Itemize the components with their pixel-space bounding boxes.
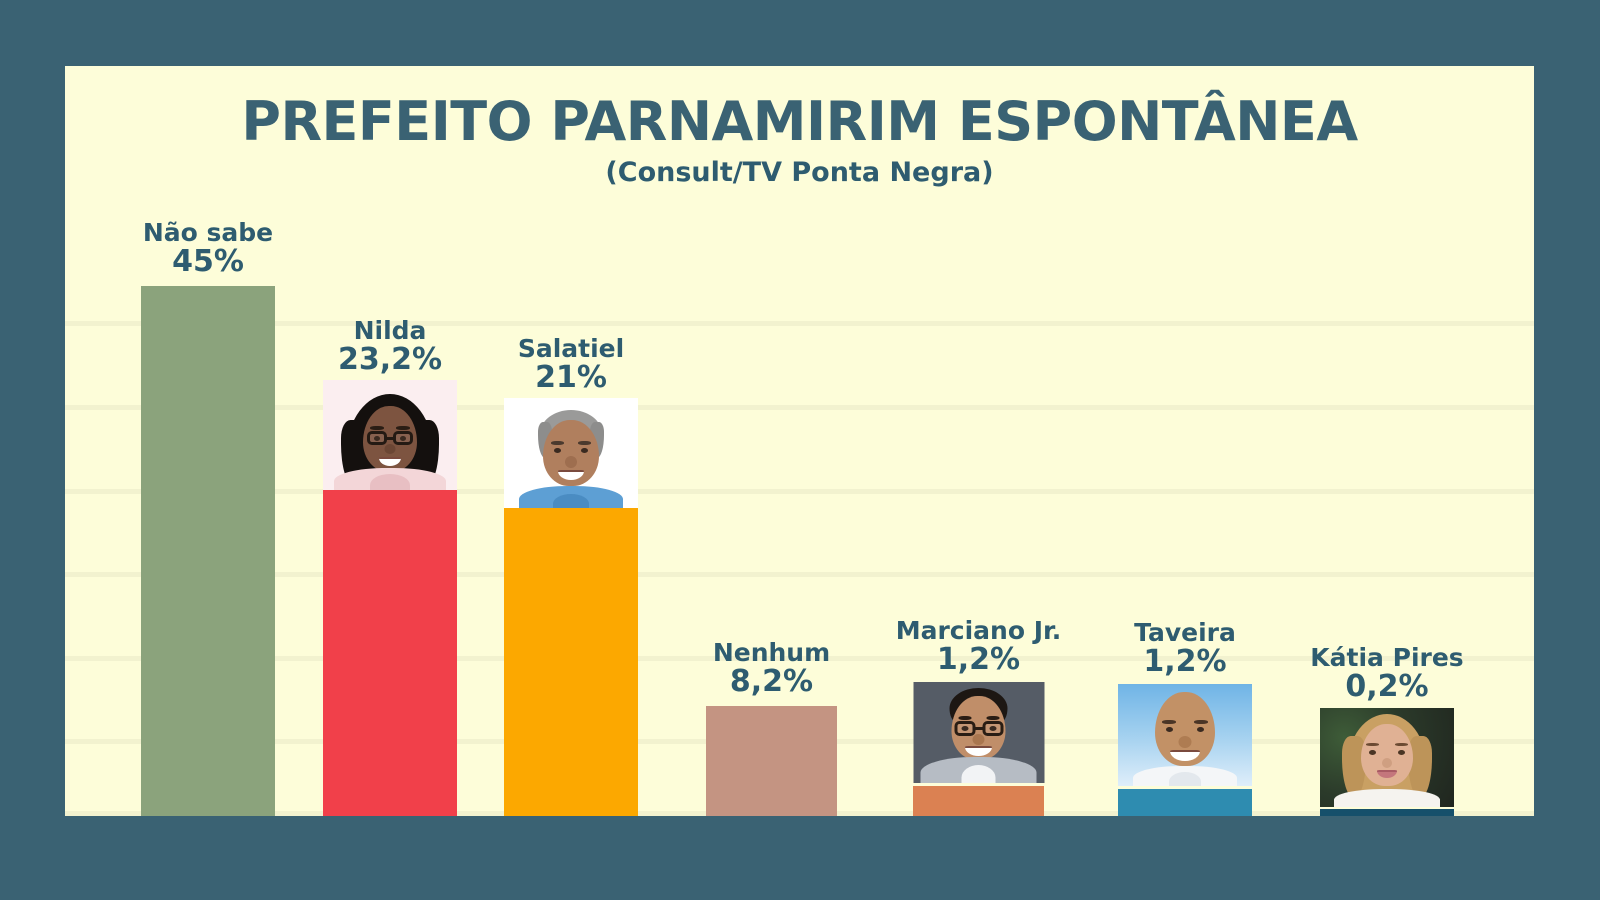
- bar-marciano[interactable]: [913, 786, 1044, 816]
- bar-value: 23,2%: [338, 344, 442, 376]
- bar-katia[interactable]: [1320, 809, 1454, 816]
- marciano-photo: [913, 682, 1044, 783]
- chart-frame: PREFEITO PARNAMIRIM ESPONTÂNEA (Consult/…: [0, 0, 1600, 900]
- chart-panel: PREFEITO PARNAMIRIM ESPONTÂNEA (Consult/…: [65, 66, 1534, 816]
- bar-group-marciano[interactable]: Marciano Jr. 1,2%: [913, 786, 1044, 816]
- salatiel-photo: [504, 398, 638, 508]
- bar-group-katia[interactable]: Kátia Pires 0,2%: [1320, 809, 1454, 816]
- bar-value: 45%: [143, 246, 273, 278]
- bar-nenhum[interactable]: [706, 706, 837, 816]
- bar-group-nenhum[interactable]: Nenhum 8,2%: [706, 706, 837, 816]
- bar-label-katia: Kátia Pires 0,2%: [1310, 645, 1463, 703]
- bar-nilda[interactable]: [323, 490, 457, 816]
- bar-name: Marciano Jr.: [896, 618, 1062, 645]
- bar-salatiel[interactable]: [504, 508, 638, 816]
- bar-label-marciano: Marciano Jr. 1,2%: [896, 618, 1062, 676]
- bar-group-nilda[interactable]: Nilda 23,2%: [323, 490, 457, 816]
- plot-area: Não sabe 45%: [65, 66, 1534, 816]
- bar-value: 21%: [518, 362, 624, 394]
- nilda-photo: [323, 380, 457, 490]
- bar-nao-sabe[interactable]: [141, 286, 275, 816]
- bar-name: Nenhum: [713, 640, 830, 667]
- taveira-photo: [1118, 684, 1252, 786]
- bar-value: 1,2%: [896, 644, 1062, 676]
- bar-value: 8,2%: [713, 666, 830, 698]
- bar-name: Nilda: [338, 318, 442, 345]
- bar-label-nenhum: Nenhum 8,2%: [713, 640, 830, 698]
- bar-label-nao-sabe: Não sabe 45%: [143, 220, 273, 278]
- bar-name: Salatiel: [518, 336, 624, 363]
- bar-value: 1,2%: [1134, 646, 1236, 678]
- bar-value: 0,2%: [1310, 671, 1463, 703]
- bar-taveira[interactable]: [1118, 789, 1252, 816]
- bar-group-salatiel[interactable]: Salatiel 21%: [504, 508, 638, 816]
- bar-label-nilda: Nilda 23,2%: [338, 318, 442, 376]
- bar-group-taveira[interactable]: Taveira 1,2%: [1118, 789, 1252, 816]
- bar-name: Taveira: [1134, 620, 1236, 647]
- bar-name: Kátia Pires: [1310, 645, 1463, 672]
- bar-label-taveira: Taveira 1,2%: [1134, 620, 1236, 678]
- katia-photo: [1320, 708, 1454, 807]
- bar-label-salatiel: Salatiel 21%: [518, 336, 624, 394]
- bar-name: Não sabe: [143, 220, 273, 247]
- bar-group-nao-sabe[interactable]: Não sabe 45%: [141, 286, 275, 816]
